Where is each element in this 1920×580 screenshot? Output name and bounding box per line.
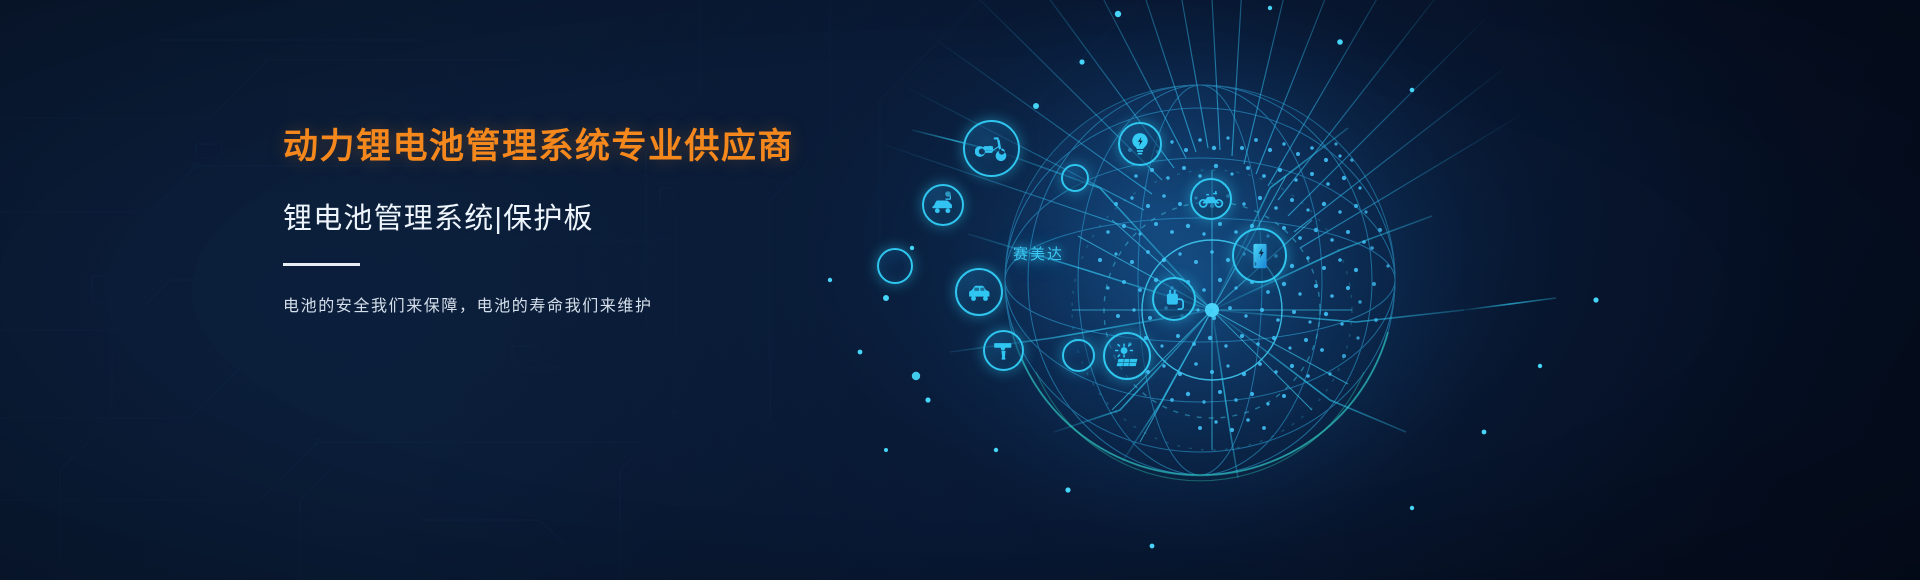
motorcycle-icon [1190,178,1232,220]
empty-node-icon [1061,164,1089,192]
power-tool-icon [983,330,1024,371]
empty-node-icon [1062,339,1095,372]
empty-node-icon [877,248,913,284]
scooter-icon [963,120,1020,177]
lightbulb-icon [1118,122,1162,166]
hero-banner: 动力锂电池管理系统专业供应商 锂电池管理系统|保护板 电池的安全我们来保障，电池… [0,0,1920,580]
solar-panel-icon [1103,332,1151,380]
forklift-icon [922,184,964,226]
power-plug-icon [1152,277,1196,321]
electric-car-icon [955,268,1003,316]
divider-rule [283,263,360,266]
power-bank-icon [1232,228,1287,283]
globe-network-graphic [800,0,1620,580]
